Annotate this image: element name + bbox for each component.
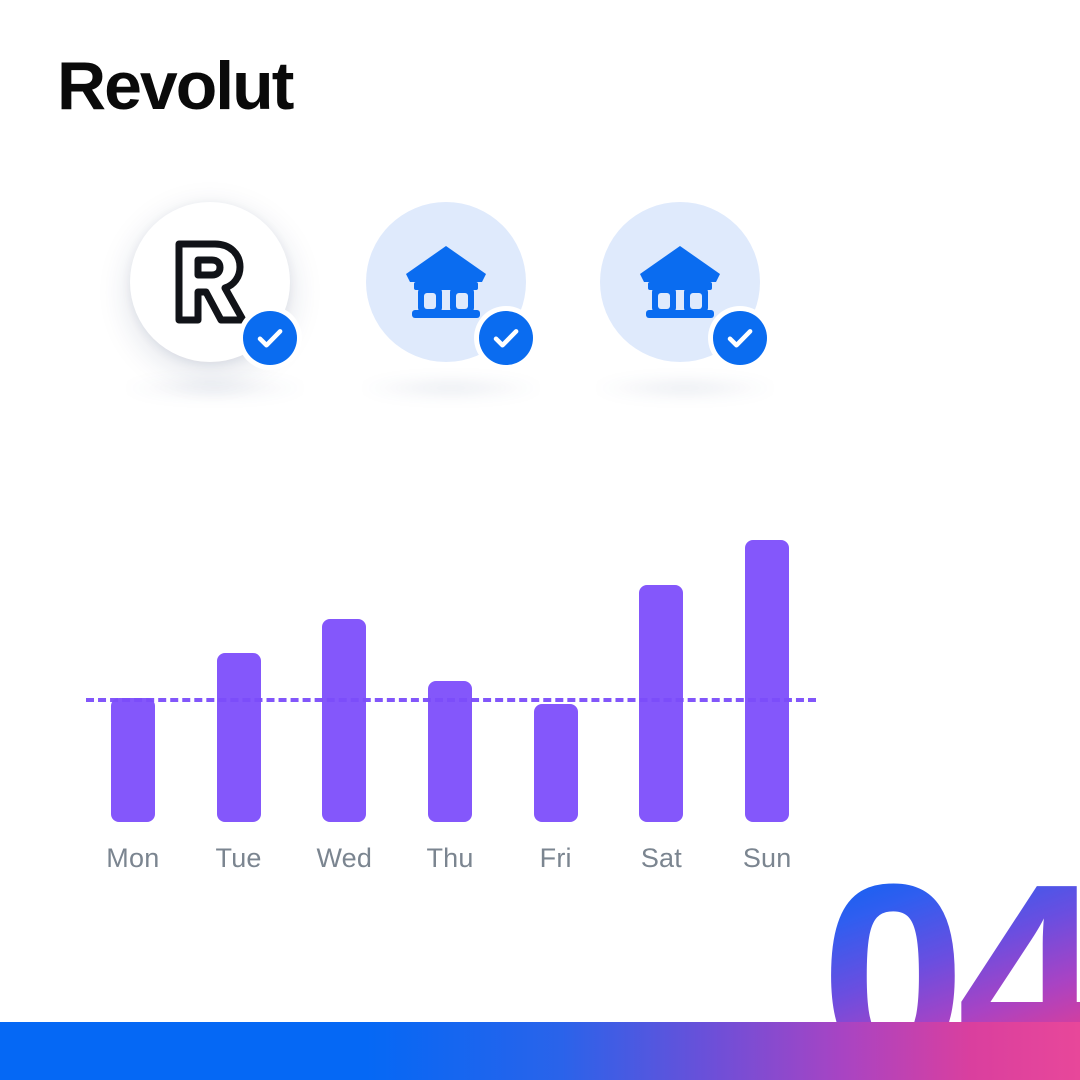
verified-badge — [474, 306, 538, 370]
check-icon — [254, 322, 286, 354]
x-axis-tick-label: Sat — [616, 843, 706, 874]
account-badge-bank-2[interactable] — [600, 202, 760, 362]
account-badge-bank-1[interactable] — [366, 202, 526, 362]
verified-badge — [238, 306, 302, 370]
bank-icon — [638, 244, 722, 320]
linked-accounts-row — [0, 195, 1080, 415]
chart-bar[interactable] — [217, 653, 261, 822]
x-axis-tick-label: Mon — [88, 843, 178, 874]
bank-icon — [404, 244, 488, 320]
account-badge-revolut[interactable] — [130, 202, 290, 362]
verified-badge-circle — [479, 311, 533, 365]
average-dashed-line — [86, 698, 816, 702]
social-card-canvas: Revolut — [0, 0, 1080, 1080]
verified-badge-circle — [243, 311, 297, 365]
chart-bar[interactable] — [322, 619, 366, 822]
x-axis-tick-label: Tue — [194, 843, 284, 874]
verified-badge-circle — [713, 311, 767, 365]
chart-bar[interactable] — [639, 585, 683, 822]
chart-bar[interactable] — [534, 704, 578, 822]
chart-bar[interactable] — [428, 681, 472, 822]
check-icon — [724, 322, 756, 354]
chart-x-axis-labels: MonTueWedThuFriSatSun — [80, 843, 820, 883]
chart-bar[interactable] — [745, 540, 789, 822]
chart-bar[interactable] — [111, 698, 155, 822]
chart-plot-area — [80, 540, 820, 822]
x-axis-tick-label: Fri — [511, 843, 601, 874]
x-axis-tick-label: Wed — [299, 843, 389, 874]
revolut-r-icon — [171, 240, 249, 324]
check-icon — [490, 322, 522, 354]
x-axis-tick-label: Thu — [405, 843, 495, 874]
verified-badge — [708, 306, 772, 370]
footer-gradient-band — [0, 1022, 1080, 1080]
x-axis-tick-label: Sun — [722, 843, 812, 874]
brand-wordmark: Revolut — [57, 52, 292, 120]
